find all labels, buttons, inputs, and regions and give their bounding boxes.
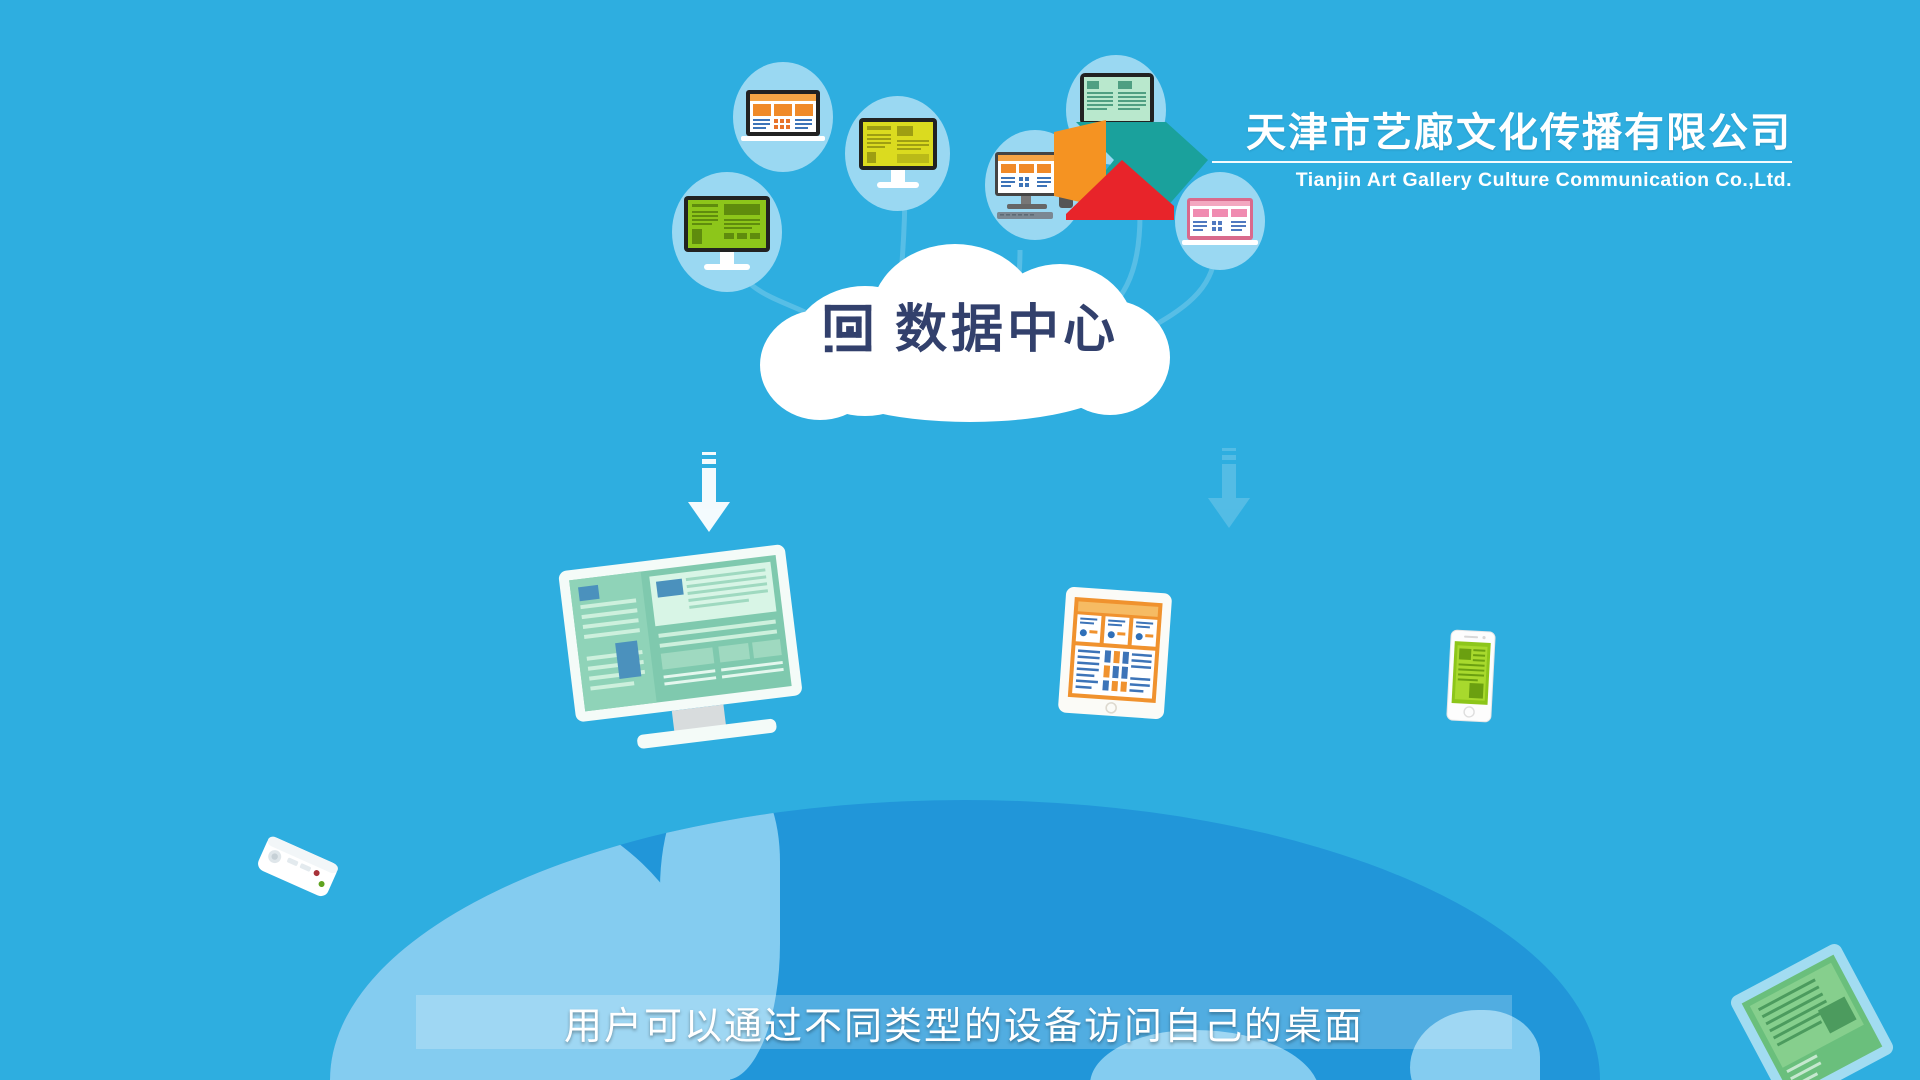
brand-block: 天津市艺廊文化传播有限公司 Tianjin Art Gallery Cultur…	[1212, 112, 1792, 192]
subtitle-text: 用户可以通过不同类型的设备访问自己的桌面	[564, 995, 1364, 1050]
download-arrow-right	[1208, 448, 1250, 530]
bottom-device-tablet	[1056, 584, 1175, 721]
download-arrow-left	[688, 452, 730, 534]
top-device-laptop-orange	[733, 62, 833, 172]
bottom-device-thin-client	[240, 820, 350, 920]
data-center-label: 数据中心	[895, 304, 1119, 356]
company-name-en: Tianjin Art Gallery Culture Communicatio…	[1212, 169, 1792, 192]
bottom-device-desktop-monitor	[554, 537, 831, 786]
bottom-device-document-page	[1717, 930, 1906, 1080]
brand-divider	[1212, 161, 1792, 163]
subtitle-bar: 用户可以通过不同类型的设备访问自己的桌面	[416, 995, 1512, 1049]
data-center-cloud: 数据中心	[760, 240, 1180, 420]
bottom-device-smartphone	[1446, 629, 1497, 723]
top-device-monitor-yellow	[845, 96, 950, 211]
data-center-maze-icon	[821, 301, 879, 359]
slide-canvas: 天津市艺廊文化传播有限公司 Tianjin Art Gallery Cultur…	[0, 0, 1920, 1080]
company-logo-mark	[1048, 108, 1218, 220]
company-name-cn: 天津市艺廊文化传播有限公司	[1212, 112, 1792, 154]
